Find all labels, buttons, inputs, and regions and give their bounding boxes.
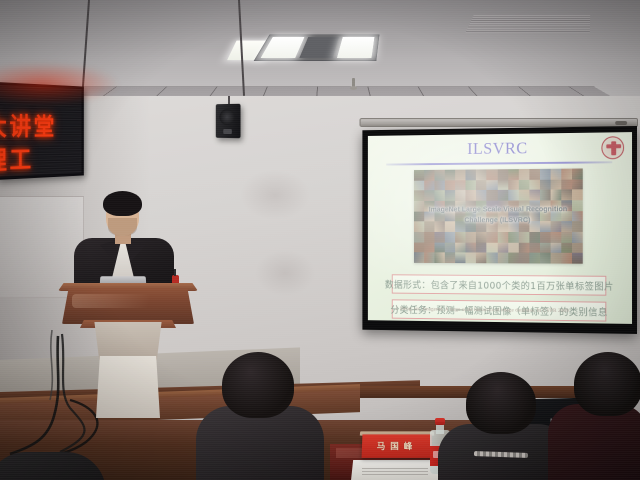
collage-thumbnail [561,179,572,190]
collage-thumbnail [445,242,455,252]
lecture-hall-photo: 大讲堂 理工 ILSVRC ImageNet Large Scale Visua… [0,0,640,480]
collage-thumbnail [414,170,424,180]
collage-thumbnail [540,242,551,253]
wall-speaker [216,104,241,138]
wall-stain [255,250,315,296]
collage-thumbnail [529,253,540,264]
collage-thumbnail [508,242,519,253]
presentation-slide: ILSVRC ImageNet Large Scale Visual Recog… [368,132,632,324]
podium-highlight [72,294,182,308]
wall-stain [240,170,310,220]
collage-thumbnail [424,242,434,252]
presenter-hair [103,191,142,216]
collage-thumbnail [455,242,465,252]
collage-thumbnail [476,253,486,263]
collage-thumbnail [497,253,508,264]
collage-thumbnail [518,169,529,180]
audience-body [548,404,640,480]
collage-thumbnail [561,243,572,254]
wall-panel-outline [0,196,84,298]
collage-thumbnail [414,242,424,252]
collage-thumbnail [497,180,508,191]
collage-thumbnail [487,232,498,242]
collage-thumbnail [529,179,540,190]
collage-thumbnail [572,243,583,254]
collage-thumbnail [414,253,424,263]
slide-bullet-box-1: 数据形式：包含了来自1000个类的1百万张单标签图片 [392,274,607,295]
collage-thumbnail [487,253,498,263]
collage-caption-line-2: Challenge (ILSVRC) [464,215,530,226]
slide-title-underline [386,161,612,165]
collage-thumbnail [518,232,529,242]
presenter-face-shadow [108,218,137,236]
collage-thumbnail [424,253,434,263]
ceiling-light-fixture [254,34,380,60]
audience-head [574,352,640,416]
collage-thumbnail [540,232,551,243]
collage-thumbnail [466,253,476,263]
collage-thumbnail [550,169,561,180]
collage-thumbnail [466,169,476,179]
university-seal-icon [601,136,624,159]
collage-thumbnail [476,180,486,190]
projection-screen: ILSVRC ImageNet Large Scale Visual Recog… [362,126,637,334]
collage-thumbnail [518,179,529,190]
collage-thumbnail [455,170,465,180]
collage-thumbnail [476,232,486,242]
sprinkler-head [352,78,355,87]
collage-thumbnail [476,242,486,252]
collage-thumbnail [445,232,455,242]
collage-thumbnail [508,180,519,191]
collage-thumbnail [572,253,583,264]
collage-thumbnail [435,232,445,242]
collage-thumbnail [508,169,519,180]
collage-thumbnail [497,169,508,180]
name-placard: 马国峰 [362,434,433,457]
collage-thumbnail [550,253,561,264]
bottle-cap [435,418,445,425]
collage-thumbnail [435,170,445,180]
slide-bullet-text-1: 数据形式：包含了来自1000个类的1百万张单标签图片 [385,277,614,293]
collage-thumbnail [550,232,561,243]
slide-title: ILSVRC [368,137,632,160]
collage-thumbnail [540,169,551,180]
bottle-neck [436,424,444,434]
collage-thumbnail [487,242,498,252]
collage-thumbnail [414,232,424,242]
collage-thumbnail [518,253,529,264]
collage-thumbnail [550,179,561,190]
collage-thumbnail [529,232,540,243]
collage-thumbnail [529,242,540,253]
collage-caption-line-1: ImageNet Large Scale Visual Recognition [429,204,567,215]
ceiling-vent [465,14,590,33]
collage-thumbnail [572,169,583,180]
collage-thumbnail [497,232,508,242]
collage-thumbnail [455,253,465,263]
collage-thumbnail [518,242,529,253]
led-banner-line-1: 大讲堂 [0,107,84,143]
collage-thumbnail [435,180,445,190]
collage-thumbnail [497,242,508,252]
collage-thumbnail [508,253,519,264]
collage-thumbnail [445,253,455,263]
collage-thumbnail [424,232,434,242]
collage-thumbnail [466,232,476,242]
audience-head [222,352,294,418]
collage-thumbnail [529,169,540,180]
collage-thumbnail [508,232,519,242]
led-banner-line-2: 理工 [0,140,84,178]
collage-thumbnail [466,180,476,190]
podium-column [88,322,168,360]
collage-thumbnail [540,179,551,190]
collage-thumbnail [435,242,445,252]
collage-thumbnail [455,180,465,190]
led-banner-glow [0,62,120,106]
paper-text-lines [362,468,428,475]
collage-thumbnail [476,169,486,179]
collage-thumbnail [550,242,561,253]
collage-caption: ImageNet Large Scale Visual Recognition … [414,198,583,232]
collage-thumbnail [424,180,434,190]
podium-skirt [96,356,160,418]
collage-thumbnail [445,180,455,190]
collage-thumbnail [487,180,498,191]
collage-thumbnail [572,232,583,243]
collage-thumbnail [435,253,445,263]
collage-thumbnail [540,253,551,264]
audience-head [466,372,536,434]
collage-thumbnail [414,180,424,190]
collage-thumbnail [424,170,434,180]
collage-thumbnail [572,179,583,190]
collage-thumbnail [445,170,455,180]
collage-thumbnail [455,232,465,242]
collage-thumbnail [561,232,572,243]
collage-thumbnail [561,169,572,180]
collage-thumbnail [487,169,498,180]
collage-thumbnail [561,253,572,264]
collage-thumbnail [466,242,476,252]
name-placard-text: 马国峰 [377,440,418,452]
